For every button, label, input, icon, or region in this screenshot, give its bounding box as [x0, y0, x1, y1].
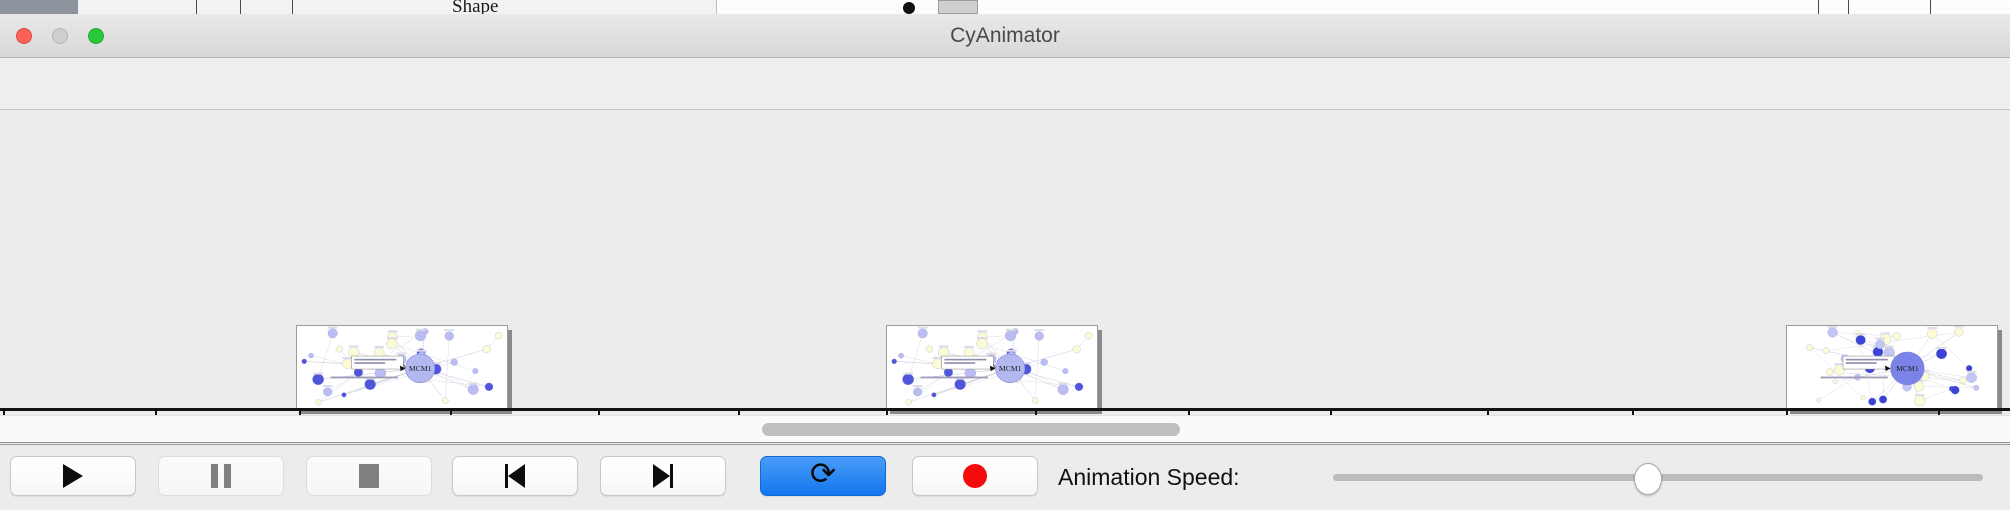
background-tick: [1930, 0, 1931, 14]
background-tick: [240, 0, 241, 14]
svg-text:MCM1: MCM1: [409, 364, 432, 373]
background-tick: [1848, 0, 1849, 14]
pause-button[interactable]: [158, 456, 284, 496]
timeline-scrollbar-thumb[interactable]: [762, 423, 1180, 436]
background-tick: [292, 0, 293, 14]
background-window-segment: [236, 0, 305, 14]
timeline-axis-line: [0, 408, 2010, 411]
skip-to-end-button[interactable]: [600, 456, 726, 496]
stop-button[interactable]: [306, 456, 432, 496]
record-icon: [963, 464, 987, 488]
skip-to-start-button[interactable]: [452, 456, 578, 496]
background-window-segment: [396, 0, 717, 14]
cyanimator-window: Shape CyAnimator + Clear All: [0, 0, 2010, 510]
keyframe-thumbnail[interactable]: MCM1: [886, 325, 1098, 409]
timeline-scrollbar[interactable]: [0, 415, 2010, 443]
pause-icon: [211, 464, 231, 488]
keyframe-image: MCM1: [1786, 325, 1998, 409]
svg-text:MCM1: MCM1: [1896, 364, 1919, 373]
background-window-segment: [304, 0, 397, 14]
keyframe-thumbnail[interactable]: MCM1: [1786, 325, 1998, 409]
loop-icon: ⟳: [810, 458, 836, 489]
background-button: [938, 0, 978, 14]
background-window-segment: [190, 0, 237, 14]
timeline-panel[interactable]: MCM1 MCM1 MCM1: [0, 110, 2010, 420]
background-dot: [903, 2, 915, 14]
window-title: CyAnimator: [0, 14, 2010, 58]
stop-icon: [359, 464, 379, 488]
svg-text:MCM1: MCM1: [999, 364, 1022, 373]
animation-speed-label: Animation Speed:: [1058, 464, 1240, 491]
play-button[interactable]: [10, 456, 136, 496]
frame-toolbar: + Clear All Frames: [0, 58, 2010, 110]
record-button[interactable]: [912, 456, 1038, 496]
background-tick: [1818, 0, 1819, 14]
keyframe-image: MCM1: [296, 325, 508, 409]
animation-speed-slider-knob[interactable]: [1634, 463, 1662, 495]
background-window-segment: [78, 0, 191, 14]
play-icon: [63, 464, 83, 488]
background-tick: [196, 0, 197, 14]
keyframe-image: MCM1: [886, 325, 1098, 409]
background-window-label: Shape: [452, 0, 498, 14]
skip-end-icon: [652, 464, 674, 488]
title-bar: CyAnimator: [0, 14, 2010, 58]
background-window-dark-segment: [0, 0, 78, 14]
skip-start-icon: [504, 464, 526, 488]
keyframe-thumbnail[interactable]: MCM1: [296, 325, 508, 409]
playback-toolbar: ⟳ Animation Speed:: [0, 444, 2010, 510]
background-window-strip: Shape: [0, 0, 2010, 14]
loop-button[interactable]: ⟳: [760, 456, 886, 496]
